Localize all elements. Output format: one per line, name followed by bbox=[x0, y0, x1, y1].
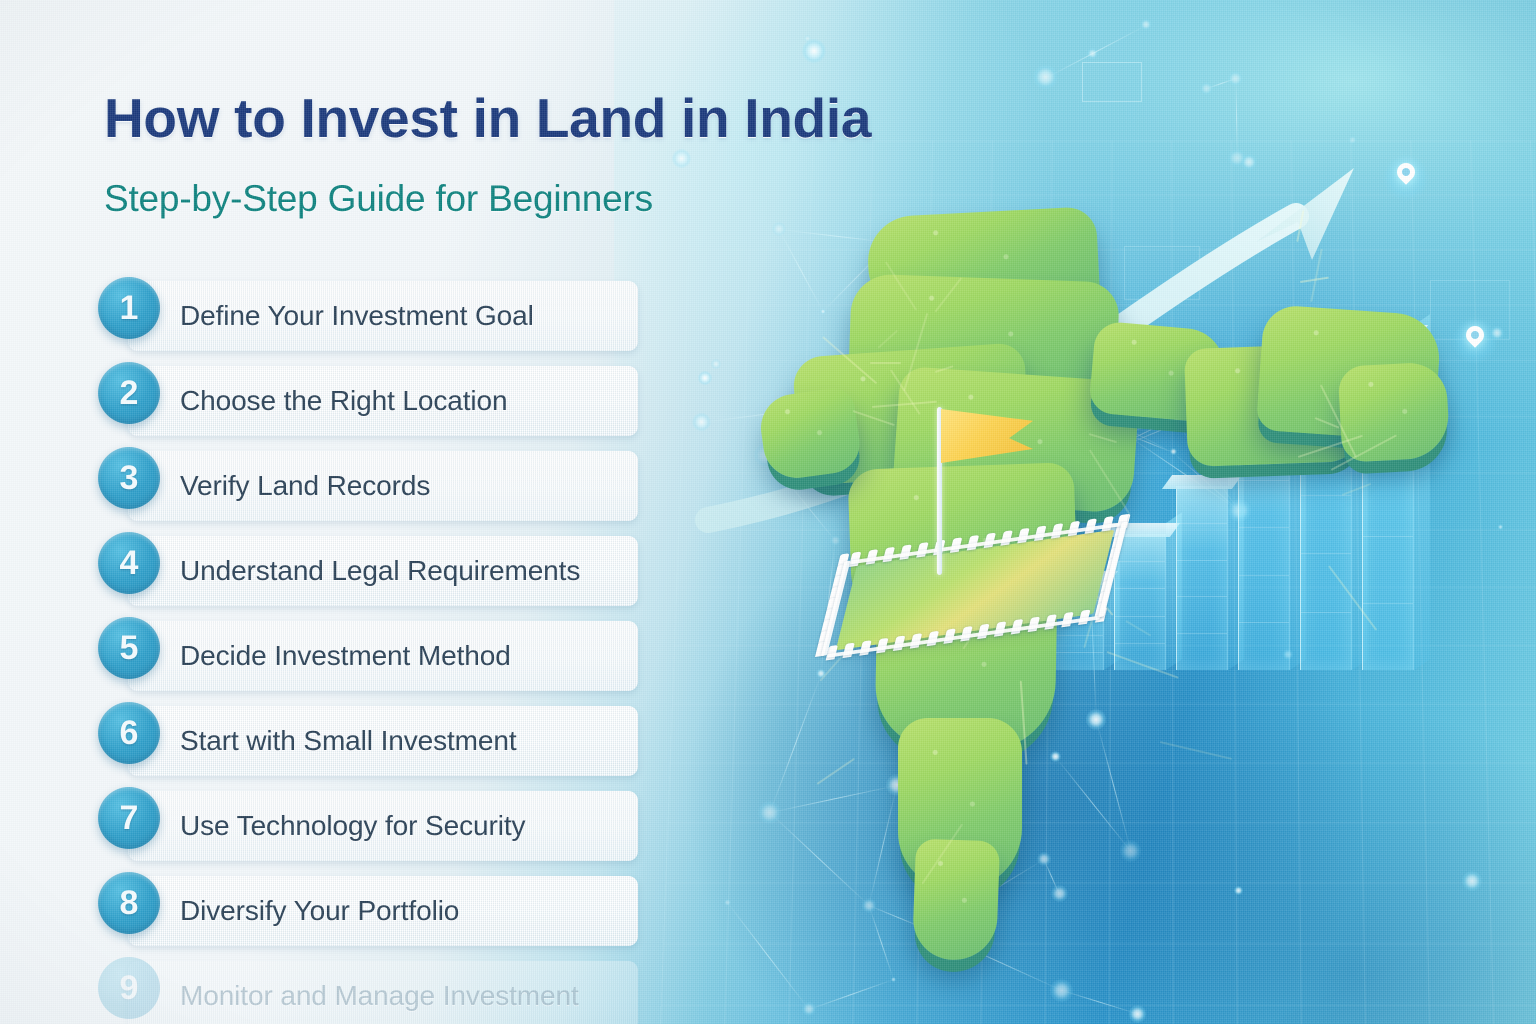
map-texture bbox=[1338, 361, 1451, 463]
step-number-badge: 8 bbox=[98, 872, 160, 934]
map-texture bbox=[912, 839, 1000, 962]
network-node bbox=[672, 149, 691, 168]
map-river-line bbox=[816, 758, 854, 785]
white-picket-fence bbox=[827, 523, 1124, 656]
step-item-3[interactable]: 3Verify Land Records bbox=[0, 447, 700, 532]
network-node bbox=[1348, 136, 1356, 144]
fence-rail bbox=[826, 616, 1100, 658]
step-item-7[interactable]: 7Use Technology for Security bbox=[0, 787, 700, 872]
fenced-land-plot bbox=[845, 525, 1105, 655]
step-label: Understand Legal Requirements bbox=[180, 536, 580, 606]
hud-rect-icon bbox=[1082, 62, 1142, 102]
step-label: Diversify Your Portfolio bbox=[180, 876, 459, 946]
infographic-canvas: How to Invest in Land in India Step-by-S… bbox=[0, 0, 1536, 1024]
step-number-badge: 2 bbox=[98, 362, 160, 424]
step-item-1[interactable]: 1Define Your Investment Goal bbox=[0, 277, 700, 362]
step-label: Verify Land Records bbox=[180, 451, 430, 521]
step-label: Decide Investment Method bbox=[180, 621, 511, 691]
step-item-4[interactable]: 4Understand Legal Requirements bbox=[0, 532, 700, 617]
step-number-badge: 4 bbox=[98, 532, 160, 594]
network-node bbox=[802, 39, 826, 63]
page-title: How to Invest in Land in India bbox=[104, 86, 871, 150]
step-label: Start with Small Investment bbox=[180, 706, 517, 776]
step-item-9[interactable]: 9Monitor and Manage Investment bbox=[0, 957, 700, 1024]
step-number-badge: 3 bbox=[98, 447, 160, 509]
india-map-segment bbox=[912, 839, 1000, 962]
india-map-segment bbox=[757, 386, 864, 483]
map-texture bbox=[757, 386, 864, 483]
step-item-6[interactable]: 6Start with Small Investment bbox=[0, 702, 700, 787]
step-number-badge: 6 bbox=[98, 702, 160, 764]
network-link bbox=[1235, 79, 1237, 158]
steps-list: 1Define Your Investment Goal2Choose the … bbox=[0, 277, 700, 1024]
map-river-line bbox=[1160, 741, 1232, 759]
step-number-badge: 7 bbox=[98, 787, 160, 849]
step-item-8[interactable]: 8Diversify Your Portfolio bbox=[0, 872, 700, 957]
step-number-badge: 9 bbox=[98, 957, 160, 1019]
step-item-5[interactable]: 5Decide Investment Method bbox=[0, 617, 700, 702]
step-number-badge: 5 bbox=[98, 617, 160, 679]
step-number-badge: 1 bbox=[98, 277, 160, 339]
illustration-group bbox=[700, 150, 1536, 1024]
step-label: Monitor and Manage Investment bbox=[180, 961, 579, 1024]
step-label: Use Technology for Security bbox=[180, 791, 525, 861]
step-item-2[interactable]: 2Choose the Right Location bbox=[0, 362, 700, 447]
step-label: Choose the Right Location bbox=[180, 366, 508, 436]
page-subtitle: Step-by-Step Guide for Beginners bbox=[104, 178, 653, 220]
india-map-segment bbox=[1338, 361, 1451, 463]
fence-rail bbox=[850, 522, 1124, 564]
network-node bbox=[804, 35, 811, 42]
step-label: Define Your Investment Goal bbox=[180, 281, 534, 351]
